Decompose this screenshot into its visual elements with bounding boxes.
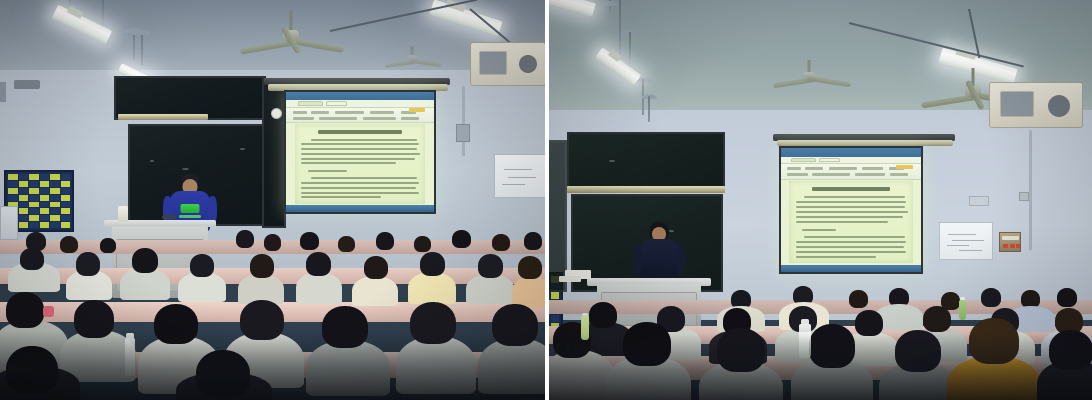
fan-blade	[807, 76, 851, 88]
notice-card	[61, 181, 71, 187]
blackboard-upper	[567, 132, 725, 190]
audience-head	[20, 248, 44, 270]
ribbon-icon	[319, 117, 357, 120]
document-text-line	[804, 236, 905, 238]
whiteboard-scribble	[947, 245, 969, 246]
notice-card	[29, 188, 39, 194]
ribbon-accent	[409, 108, 425, 112]
air-conditioner	[989, 82, 1083, 128]
wall-socket	[1019, 192, 1029, 201]
notice-card	[19, 215, 29, 221]
audience-head	[1057, 288, 1077, 307]
presenter-arm-left	[633, 244, 642, 274]
audience-head	[376, 232, 394, 250]
notice-card	[19, 181, 29, 187]
document-text-line	[301, 192, 418, 194]
document-page	[789, 181, 912, 263]
audience-head	[6, 292, 44, 328]
ribbon-icon	[401, 117, 419, 120]
audience-head	[76, 252, 100, 276]
notice-card	[19, 202, 29, 208]
notice-card	[19, 195, 29, 201]
audience-head	[364, 256, 388, 279]
app-tab	[326, 101, 347, 105]
foreground-shadow	[549, 334, 1092, 400]
app-title-bar	[286, 92, 434, 100]
notice-card	[19, 174, 29, 180]
app-tab-row	[781, 157, 921, 164]
audience-head	[524, 232, 542, 250]
audience-head	[306, 252, 331, 276]
poster	[0, 206, 18, 240]
document-text-line	[301, 158, 414, 160]
ribbon-icon	[890, 173, 908, 176]
notice-card	[29, 215, 39, 221]
document-text-line	[796, 216, 903, 218]
ribbon-icon	[829, 167, 857, 170]
notice-card	[40, 195, 50, 201]
notice-card	[50, 188, 60, 194]
notice-card	[61, 215, 71, 221]
ceiling-fan	[385, 46, 439, 70]
notice-card	[29, 202, 39, 208]
document-text-line	[301, 187, 416, 189]
notice-card	[50, 215, 60, 221]
panel-button[interactable]	[1010, 244, 1015, 248]
wall-bracket	[14, 80, 40, 89]
notice-card	[50, 222, 60, 228]
app-tab	[298, 101, 323, 105]
ribbon-icon	[787, 167, 801, 170]
ac-vent	[1000, 91, 1034, 117]
wall-whiteboard	[939, 222, 993, 260]
notice-card	[50, 208, 60, 214]
lamp-stem	[629, 32, 631, 64]
app-title-bar	[781, 148, 921, 157]
right-photo: OS	[549, 0, 1092, 400]
notice-card	[29, 174, 39, 180]
chalk-smudge	[609, 160, 615, 162]
wall-bracket	[969, 196, 989, 206]
lamp-stem	[619, 0, 621, 62]
ceiling-fan	[246, 10, 336, 60]
app-ribbon	[781, 164, 921, 180]
audience-head	[300, 232, 319, 250]
chalk-smudge	[182, 168, 189, 170]
blackboard-side-panel	[549, 140, 567, 292]
app-ribbon	[286, 108, 434, 124]
notice-card	[19, 208, 29, 214]
panel-button[interactable]	[1016, 244, 1020, 248]
ribbon-icon	[311, 111, 329, 114]
audience-head	[478, 254, 503, 278]
chalk-smudge	[150, 160, 154, 162]
projection-screen	[779, 146, 923, 274]
camera-dome	[271, 108, 282, 119]
document-title	[812, 187, 891, 191]
notice-card	[8, 181, 18, 187]
wall-switchbox	[456, 124, 470, 142]
document-text-line	[796, 211, 908, 213]
notice-card	[8, 174, 18, 180]
app-tab	[791, 158, 816, 163]
document-page	[295, 124, 425, 203]
ribbon-icon	[293, 117, 314, 120]
document-text-line	[796, 241, 907, 243]
ribbon-icon	[363, 117, 396, 120]
audience-torso	[352, 276, 398, 306]
notice-card	[551, 315, 559, 322]
notice-card	[8, 195, 18, 201]
document-text-line	[301, 143, 418, 145]
notice-card	[50, 195, 60, 201]
ribbon-icon	[812, 173, 850, 176]
audience-head	[250, 254, 274, 278]
notice-card	[40, 174, 50, 180]
lamp-disc	[132, 30, 151, 35]
notice-card	[61, 174, 71, 180]
air-conditioner	[470, 42, 545, 86]
panel-button[interactable]	[1003, 244, 1008, 248]
notice-card	[61, 202, 71, 208]
os-taskbar	[781, 265, 921, 272]
left-photo	[0, 0, 545, 400]
notice-card	[40, 202, 50, 208]
notice-card	[40, 181, 50, 187]
whiteboard-scribble	[508, 177, 536, 178]
whiteboard-scribble	[502, 184, 525, 185]
notice-card	[8, 188, 18, 194]
document-text-line	[301, 162, 396, 164]
audience-head	[923, 306, 951, 332]
audience-torso	[296, 272, 342, 304]
notice-card	[29, 208, 39, 214]
ribbon-icon	[862, 167, 883, 170]
notice-card	[40, 215, 50, 221]
shirt-logo	[181, 204, 200, 213]
ribbon-icon	[805, 167, 823, 170]
whiteboard-scribble	[948, 234, 976, 235]
whiteboard-scribble	[959, 250, 982, 251]
papers-on-lectern	[559, 276, 581, 282]
whiteboard-scribble	[952, 240, 983, 241]
document-text-line	[301, 148, 417, 150]
notice-card	[40, 188, 50, 194]
wall-control-panel[interactable]	[999, 232, 1021, 252]
ac-fan-hole	[519, 55, 537, 73]
document-text-line	[802, 229, 837, 231]
bottle-cap	[801, 319, 810, 324]
document-text-line	[301, 196, 380, 198]
audience-head	[236, 230, 254, 248]
document-text-line	[301, 182, 418, 184]
audience-head	[855, 310, 883, 336]
notice-card	[61, 222, 71, 228]
document-text-line	[311, 139, 418, 141]
ribbon-accent	[896, 165, 913, 169]
audience-torso	[466, 274, 514, 304]
presenter	[631, 222, 687, 282]
projection-screen	[284, 90, 436, 214]
notice-card	[61, 195, 71, 201]
document-text-line	[308, 170, 347, 172]
document-text-line	[796, 206, 906, 208]
photo-pair-composite: OS	[0, 0, 1092, 400]
audience-head	[849, 290, 868, 308]
notice-card	[40, 222, 50, 228]
audience-head	[132, 248, 158, 273]
notice-card	[29, 181, 39, 187]
notice-card	[40, 208, 50, 214]
notice-card	[551, 292, 559, 299]
audience-head	[492, 234, 510, 251]
notice-card	[50, 174, 60, 180]
ribbon-icon	[293, 111, 306, 114]
chalk-rail	[118, 114, 208, 120]
lamp-stem	[141, 32, 143, 66]
os-taskbar	[286, 205, 434, 212]
audience-head	[518, 256, 542, 279]
notice-card	[61, 208, 71, 214]
audience-head	[100, 238, 116, 253]
panel-label	[1002, 236, 1019, 240]
pink-object	[43, 306, 54, 317]
water-bottle	[959, 300, 966, 320]
audience-head	[981, 288, 1001, 307]
shirt-logo-text	[179, 215, 201, 218]
bottle-cap	[960, 297, 965, 300]
audience-torso	[408, 272, 456, 304]
document-text-line	[311, 177, 418, 179]
audience-head	[452, 230, 471, 248]
notice-card	[29, 195, 39, 201]
water-cup	[118, 206, 128, 222]
audience-head	[264, 234, 281, 251]
audience-head	[589, 302, 617, 328]
app-tab	[819, 158, 840, 163]
document-text-line	[804, 196, 905, 198]
audience-head	[338, 236, 355, 252]
lamp-stem	[648, 96, 650, 122]
microphone	[162, 215, 176, 219]
ribbon-icon	[855, 173, 884, 176]
notice-card	[19, 222, 29, 228]
whiteboard-scribble	[504, 169, 532, 170]
presenter-arm-right	[676, 244, 685, 274]
foreground-shadow	[0, 330, 545, 400]
audience-head	[414, 236, 431, 252]
document-text-line	[796, 221, 888, 223]
chalk-smudge	[240, 148, 245, 150]
ribbon-icon	[370, 111, 394, 114]
ac-fan-hole	[1048, 95, 1070, 117]
notice-card	[50, 202, 60, 208]
app-tab-row	[286, 100, 434, 107]
document-text-line	[796, 246, 904, 248]
document-text-line	[796, 201, 907, 203]
ribbon-icon	[787, 173, 808, 176]
ac-vent	[479, 51, 507, 75]
lamp-disc	[602, 1, 618, 6]
notice-card	[19, 188, 29, 194]
wall-box	[0, 82, 6, 102]
wall-whiteboard	[494, 154, 545, 198]
document-text-line	[796, 251, 907, 253]
fan-rod	[290, 10, 293, 32]
audience-head	[190, 254, 214, 277]
bottle-cap	[582, 313, 588, 317]
wall-conduit	[462, 86, 465, 156]
audience-head	[420, 252, 445, 276]
notice-card	[61, 188, 71, 194]
document-text-line	[301, 153, 420, 155]
presenter-torso	[640, 239, 678, 281]
document-text-line	[796, 256, 876, 258]
document-title	[318, 130, 401, 134]
chalk-rail	[567, 186, 725, 193]
ribbon-icon	[335, 111, 365, 114]
wall-conduit	[1029, 130, 1032, 250]
notice-card	[50, 181, 60, 187]
audience-head	[60, 236, 78, 253]
notice-card	[29, 222, 39, 228]
blackboard-side	[262, 78, 286, 228]
fan-blade	[411, 59, 441, 67]
ceiling-fan	[769, 60, 849, 102]
